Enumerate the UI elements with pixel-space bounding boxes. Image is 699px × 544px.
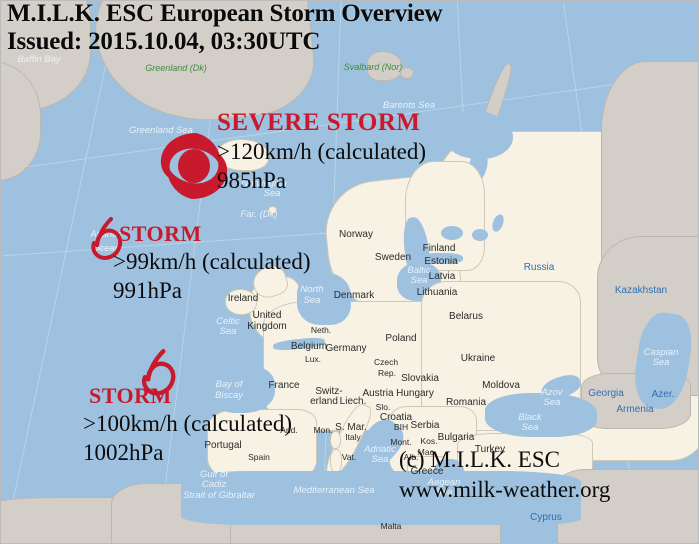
finland-lakes: [441, 226, 463, 240]
lake-ladoga: [472, 229, 488, 241]
landmass-sardinia: [330, 449, 342, 473]
severe-storm-annotation: SEVERE STORM >120km/h (calculated) 985hP…: [217, 109, 426, 196]
storm-1-pressure: 991hPa: [113, 276, 311, 305]
severe-storm-category: SEVERE STORM: [217, 109, 426, 137]
black-sea: [485, 393, 597, 437]
landmass-corsica: [330, 431, 341, 449]
storm-1-wind: >99km/h (calculated): [113, 247, 311, 276]
storm-1-category: STORM: [119, 221, 311, 247]
credit-block: (c) M.I.L.K. ESC www.milk-weather.org: [399, 445, 610, 505]
website-url: www.milk-weather.org: [399, 475, 610, 505]
copyright-text: (c) M.I.L.K. ESC: [399, 445, 610, 475]
storm-2-wind: >100km/h (calculated): [83, 409, 292, 438]
severe-storm-wind: >120km/h (calculated): [217, 137, 426, 166]
storm-2-pressure: 1002hPa: [83, 438, 292, 467]
storm-annotation-1: STORM >99km/h (calculated) 991hPa: [119, 221, 311, 306]
severe-storm-pressure: 985hPa: [217, 166, 426, 195]
storm-annotation-2: STORM >100km/h (calculated) 1002hPa: [89, 383, 292, 468]
title-line-1: M.I.L.K. ESC European Storm Overview: [7, 0, 442, 28]
page-title: M.I.L.K. ESC European Storm Overview Iss…: [7, 0, 442, 56]
storm-2-category: STORM: [89, 383, 292, 409]
landmass-faroe: [268, 206, 277, 214]
title-line-2: Issued: 2015.10.04, 03:30UTC: [7, 28, 442, 56]
landmass-svalbard-islet: [400, 67, 414, 79]
storm-overview-map: NorwaySwedenFinlandEstoniaLatviaLithuani…: [0, 0, 699, 544]
